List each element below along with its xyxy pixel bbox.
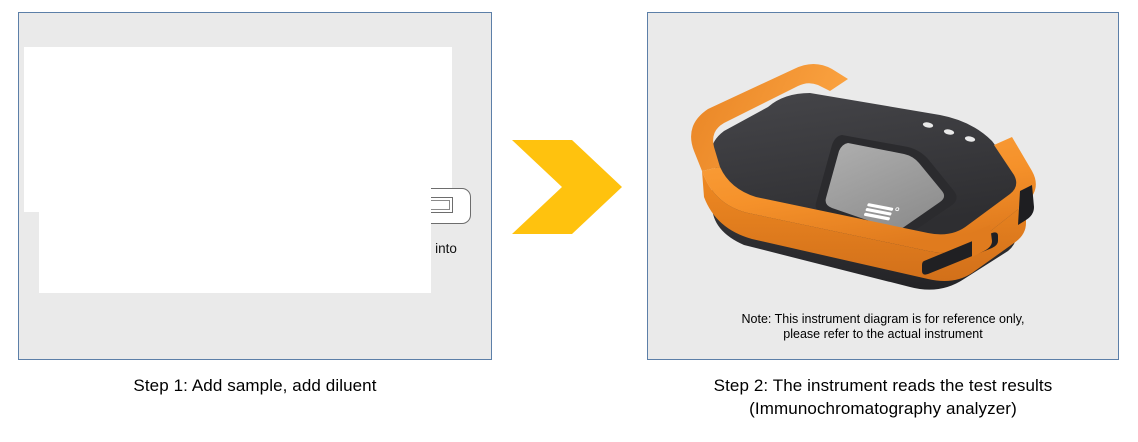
chevron-right-arrow-icon xyxy=(510,138,624,236)
step-2-caption-line-2: (Immunochromatography analyzer) xyxy=(630,397,1136,420)
step-1-caption: Step 1: Add sample, add diluent xyxy=(18,374,492,397)
instrument-reference-note: Note: This instrument diagram is for ref… xyxy=(655,312,1111,342)
handheld-analyzer-icon xyxy=(672,55,1052,290)
step-2-caption-line-1: Step 2: The instrument reads the test re… xyxy=(630,374,1136,397)
step-2-illustration-area xyxy=(39,48,431,293)
step-2-caption: Step 2: The instrument reads the test re… xyxy=(630,374,1136,420)
instrument-note-line-2: please refer to the actual instrument xyxy=(655,327,1111,342)
figure-stage: 21C 21C Add specimen into sample well Ad… xyxy=(0,0,1138,442)
instrument-note-line-1: Note: This instrument diagram is for ref… xyxy=(655,312,1111,327)
